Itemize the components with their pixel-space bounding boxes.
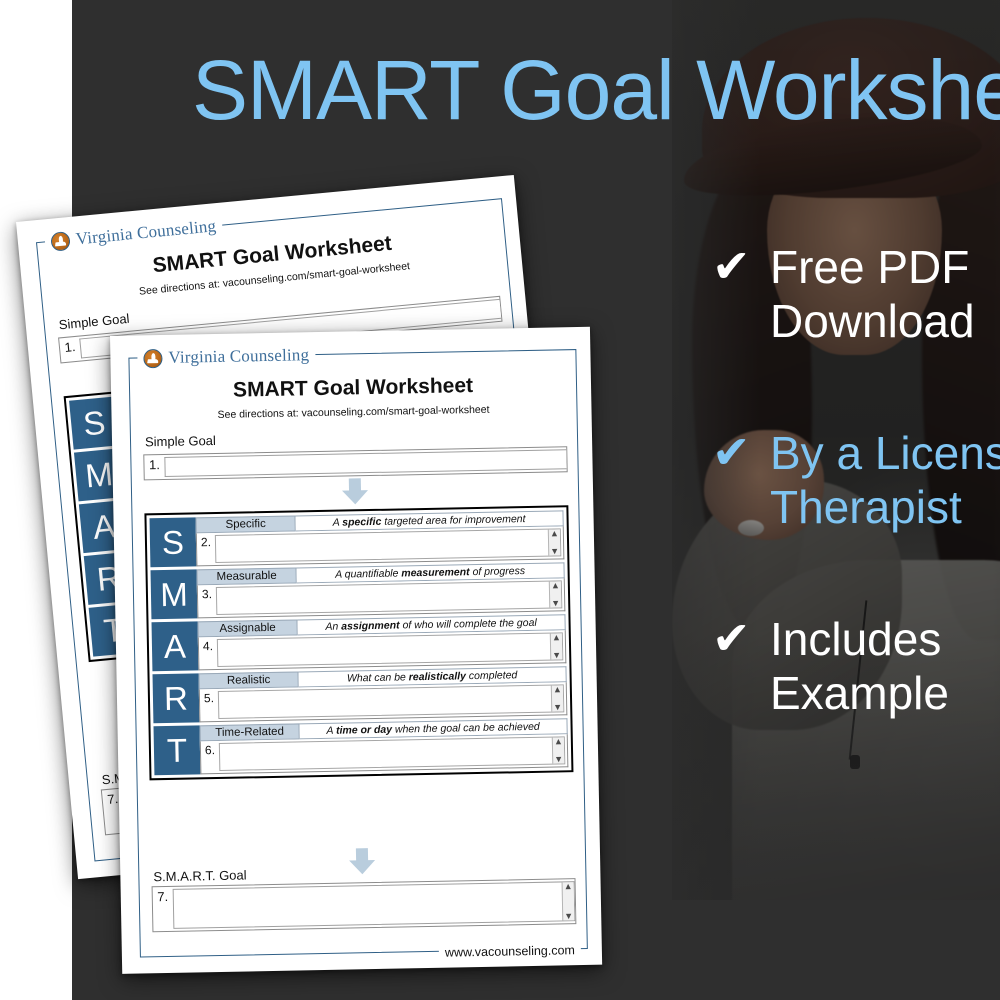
worksheet-page: Virginia Counseling SMART Goal Worksheet… [110,327,602,974]
scrollbar[interactable]: ▲ ▼ [549,581,561,607]
smart-row-measurable: M Measurable A quantifiable measurement … [151,562,566,619]
smart-letter-s: S [150,517,197,567]
smart-name-specific: Specific [195,515,295,533]
smart-input-row-specific[interactable]: 2. ▲ ▼ [196,526,565,566]
smart-goal-field[interactable]: 7. ▲ ▼ [152,878,577,932]
desc-bold: realistically [409,670,466,683]
check-mark-icon: ✔ [712,240,770,292]
scroll-up-icon[interactable]: ▲ [556,737,562,745]
smart-name-assignable: Assignable [197,619,297,637]
smart-letter-t: T [153,725,200,775]
promo-bullet-free-pdf-download: ✔ Free PDF Download [712,240,1000,348]
scroll-down-icon[interactable]: ▼ [566,912,572,920]
desc-pre: An [325,621,341,633]
desc-post: of who will complete the goal [399,617,536,632]
scrollbar[interactable]: ▲ ▼ [548,529,560,555]
promo-bullet-includes-example: ✔ Includes Example [712,612,1000,720]
smart-textarea-realistic[interactable]: ▲ ▼ [218,684,564,719]
smart-textarea-measurable[interactable]: ▲ ▼ [216,580,562,615]
smart-textarea-time-related[interactable]: ▲ ▼ [219,736,565,771]
smart-number: 3. [198,585,217,617]
smart-input-row-time-related[interactable]: 6. ▲ ▼ [200,734,569,774]
desc-bold: time or day [336,724,392,737]
scroll-up-icon[interactable]: ▲ [565,882,571,890]
promo-bullet-licensed-therapist: ✔ By a Licensed Therapist [712,426,1000,534]
worksheet-frame: Virginia Counseling SMART Goal Worksheet… [128,349,587,957]
scroll-up-icon[interactable]: ▲ [555,685,561,693]
smart-name-realistic: Realistic [198,671,298,689]
smart-number: 2. [197,533,216,565]
scroll-up-icon[interactable]: ▲ [552,529,558,537]
down-arrow-icon [342,478,368,504]
desc-bold: assignment [341,619,400,632]
smart-row-specific: S Specific A specific targeted area for … [150,510,565,567]
scroll-down-icon[interactable]: ▼ [556,755,562,763]
desc-post: targeted area for improvement [381,513,525,528]
promo-bullet-label: Includes Example [770,612,1000,720]
worksheet-brand-row: Virginia Counseling [137,344,315,369]
desc-bold: measurement [401,566,469,579]
simple-goal-label: Simple Goal [58,311,130,333]
smart-input-row-assignable[interactable]: 4. ▲ ▼ [198,630,567,670]
desc-pre: What can be [347,671,409,684]
smart-letter-r: R [153,673,200,723]
smart-number: 4. [199,637,218,669]
desc-post: completed [466,669,518,682]
smart-table: S Specific A specific targeted area for … [144,505,573,780]
check-mark-icon: ✔ [712,612,770,664]
smart-textarea-assignable[interactable]: ▲ ▼ [217,632,563,667]
smart-name-measurable: Measurable [196,567,296,585]
promo-bullet-label: Free PDF Download [770,240,1000,348]
dove-in-circle-logo-icon [143,348,162,367]
smart-input-row-realistic[interactable]: 5. ▲ ▼ [199,682,568,722]
smart-row-realistic: R Realistic What can be realistically co… [153,666,568,723]
smart-number: 6. [201,741,220,773]
worksheet-brand-name: Virginia Counseling [75,216,217,249]
desc-bold: specific [342,516,381,529]
worksheet-sheet-front[interactable]: Virginia Counseling SMART Goal Worksheet… [110,327,602,974]
scroll-down-icon[interactable]: ▼ [555,703,561,711]
worksheet-title: SMART Goal Worksheet [130,372,576,405]
smart-number: 5. [200,689,219,721]
desc-post: of progress [469,565,525,578]
down-arrow-icon [349,848,375,874]
smart-row-assignable: A Assignable An assignment of who will c… [152,614,567,671]
scroll-up-icon[interactable]: ▲ [554,633,560,641]
dove-in-circle-logo-icon [50,231,71,252]
scroll-down-icon[interactable]: ▼ [553,599,559,607]
promo-bullet-label: By a Licensed Therapist [770,426,1000,534]
promo-bullet-list: ✔ Free PDF Download ✔ By a Licensed Ther… [712,240,1000,798]
poster-canvas: SMART Goal Worksheet ✔ Free PDF Download… [0,0,1000,1000]
worksheet-subtitle: See directions at: vacounseling.com/smar… [130,402,576,423]
desc-pre: A [333,517,343,529]
scroll-down-icon[interactable]: ▼ [554,651,560,659]
worksheet-footer: www.vacounseling.com [439,943,581,960]
smart-goal-label: S.M.A.R.T. Goal [153,867,246,884]
worksheet-brand-row: Virginia Counseling [44,215,223,254]
smart-goal-number: 7. [153,887,174,931]
smart-row-time-related: T Time-Related A time or day when the go… [153,718,568,775]
simple-goal-label: Simple Goal [145,433,216,449]
simple-goal-field[interactable]: 1. [143,446,567,480]
scrollbar[interactable]: ▲ ▼ [550,633,562,659]
simple-goal-input[interactable] [164,449,566,477]
check-mark-icon: ✔ [712,426,770,478]
simple-goal-number: 1. [144,455,164,479]
desc-pre: A quantifiable [335,567,401,580]
scrollbar[interactable]: ▲ ▼ [552,737,564,763]
desc-post: when the goal can be achieved [392,721,540,736]
promo-headline: SMART Goal Worksheet [192,48,1000,132]
scroll-up-icon[interactable]: ▲ [553,581,559,589]
simple-goal-number: 1. [59,337,81,363]
smart-letter-a: A [152,621,199,671]
smart-name-time-related: Time-Related [199,723,299,741]
scrollbar[interactable]: ▲ ▼ [562,882,575,920]
worksheet-brand-name: Virginia Counseling [168,345,309,368]
smart-goal-input[interactable]: ▲ ▼ [173,881,576,929]
smart-letter-m: M [151,569,198,619]
smart-textarea-specific[interactable]: ▲ ▼ [215,528,561,563]
smart-input-row-measurable[interactable]: 3. ▲ ▼ [197,578,566,618]
scrollbar[interactable]: ▲ ▼ [551,685,563,711]
scroll-down-icon[interactable]: ▼ [552,547,558,555]
